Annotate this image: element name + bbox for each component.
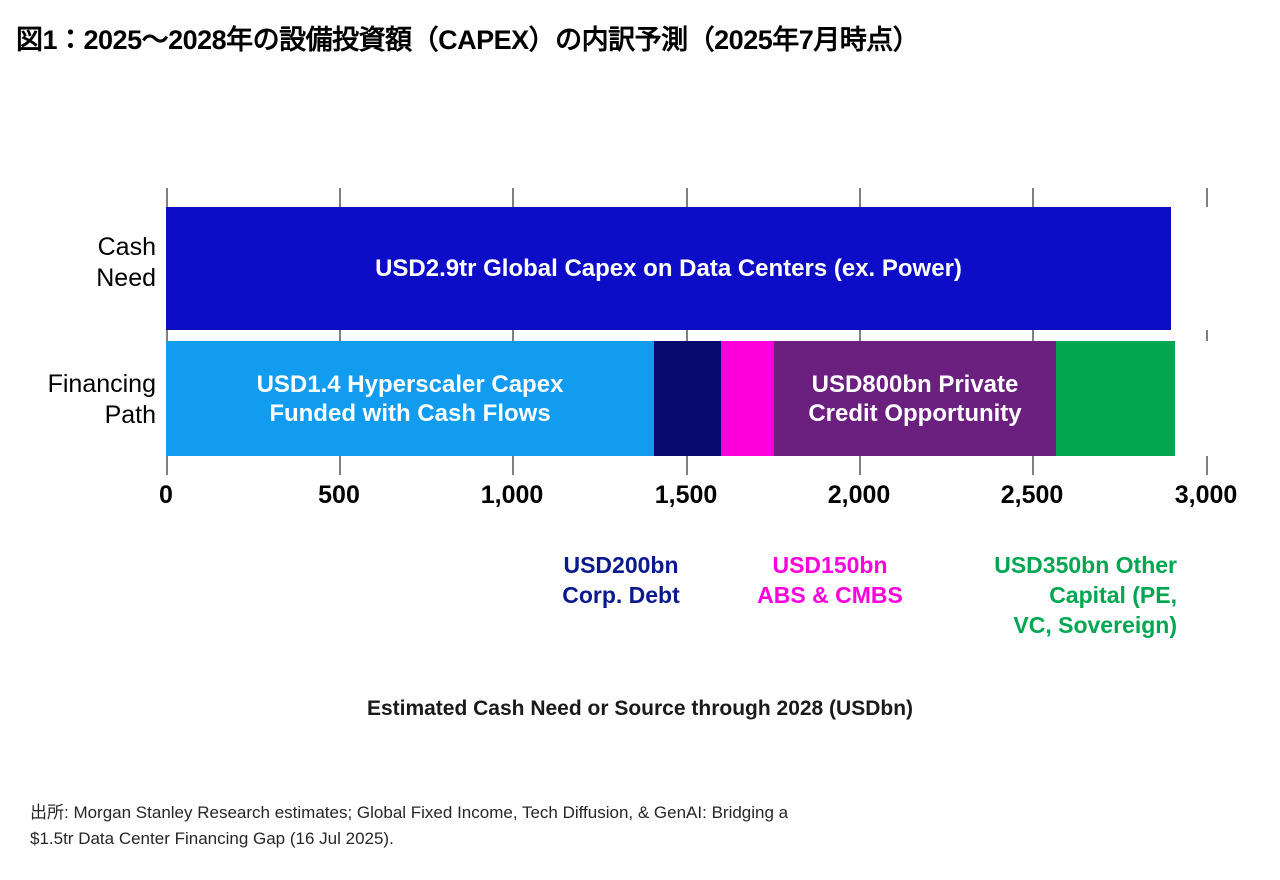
tick-mark-1000-top	[512, 188, 514, 207]
tick-mark-1500-top	[686, 188, 688, 207]
x-tick-label-3000: 3,000	[1175, 481, 1238, 510]
tick-mark-3000-bottom	[1206, 456, 1208, 475]
tick-mark-500-bottom	[339, 456, 341, 475]
x-tick-label-2500: 2,500	[1001, 481, 1064, 510]
bar-segment-private-credit: USD800bn Private Credit Opportunity	[774, 341, 1056, 456]
tick-mark-3000-mid	[1206, 330, 1208, 341]
x-tick-label-0: 0	[159, 481, 173, 510]
callout-other-capital: USD350bn Other Capital (PE, VC, Sovereig…	[955, 550, 1177, 640]
tick-mark-2500-top	[1032, 188, 1034, 207]
bar-label-global-capex: USD2.9tr Global Capex on Data Centers (e…	[369, 254, 968, 283]
tick-mark-0-top	[166, 188, 168, 207]
tick-mark-2500-mid	[1032, 330, 1034, 341]
bar-label-private-credit: USD800bn Private Credit Opportunity	[802, 370, 1027, 428]
x-tick-label-500: 500	[318, 481, 360, 510]
tick-mark-2500-bottom	[1032, 456, 1034, 475]
tick-mark-1000-mid	[512, 330, 514, 341]
tick-mark-2000-top	[859, 188, 861, 207]
bar-segment-abs-cmbs	[721, 341, 774, 456]
tick-mark-2000-mid	[859, 330, 861, 341]
chart-plot-area: 0 500 1,000 1,500 2,000 2,500 3,000 Cash…	[0, 0, 1280, 880]
tick-mark-0-bottom	[166, 456, 168, 475]
x-tick-label-2000: 2,000	[828, 481, 891, 510]
bar-label-hyperscaler-capex: USD1.4 Hyperscaler Capex Funded with Cas…	[251, 370, 570, 428]
callout-corp-debt: USD200bn Corp. Debt	[533, 550, 709, 610]
bar-segment-global-capex: USD2.9tr Global Capex on Data Centers (e…	[166, 207, 1171, 330]
bar-segment-corp-debt	[654, 341, 721, 456]
x-tick-label-1500: 1,500	[655, 481, 718, 510]
bar-segment-hyperscaler-capex: USD1.4 Hyperscaler Capex Funded with Cas…	[166, 341, 654, 456]
tick-mark-500-top	[339, 188, 341, 207]
y-category-label-financing-path: Financing Path	[48, 369, 156, 431]
x-tick-label-1000: 1,000	[481, 481, 544, 510]
callout-abs-cmbs: USD150bn ABS & CMBS	[740, 550, 920, 610]
bar-segment-other-capital	[1056, 341, 1175, 456]
tick-mark-500-mid	[339, 330, 341, 341]
tick-mark-1500-mid	[686, 330, 688, 341]
y-category-label-cash-need: Cash Need	[96, 232, 156, 294]
tick-mark-0-mid	[166, 330, 168, 341]
tick-mark-2000-bottom	[859, 456, 861, 475]
tick-mark-1500-bottom	[686, 456, 688, 475]
x-axis-title: Estimated Cash Need or Source through 20…	[0, 697, 1280, 721]
tick-mark-3000-top	[1206, 188, 1208, 207]
source-note: 出所: Morgan Stanley Research estimates; G…	[30, 800, 1030, 852]
tick-mark-1000-bottom	[512, 456, 514, 475]
